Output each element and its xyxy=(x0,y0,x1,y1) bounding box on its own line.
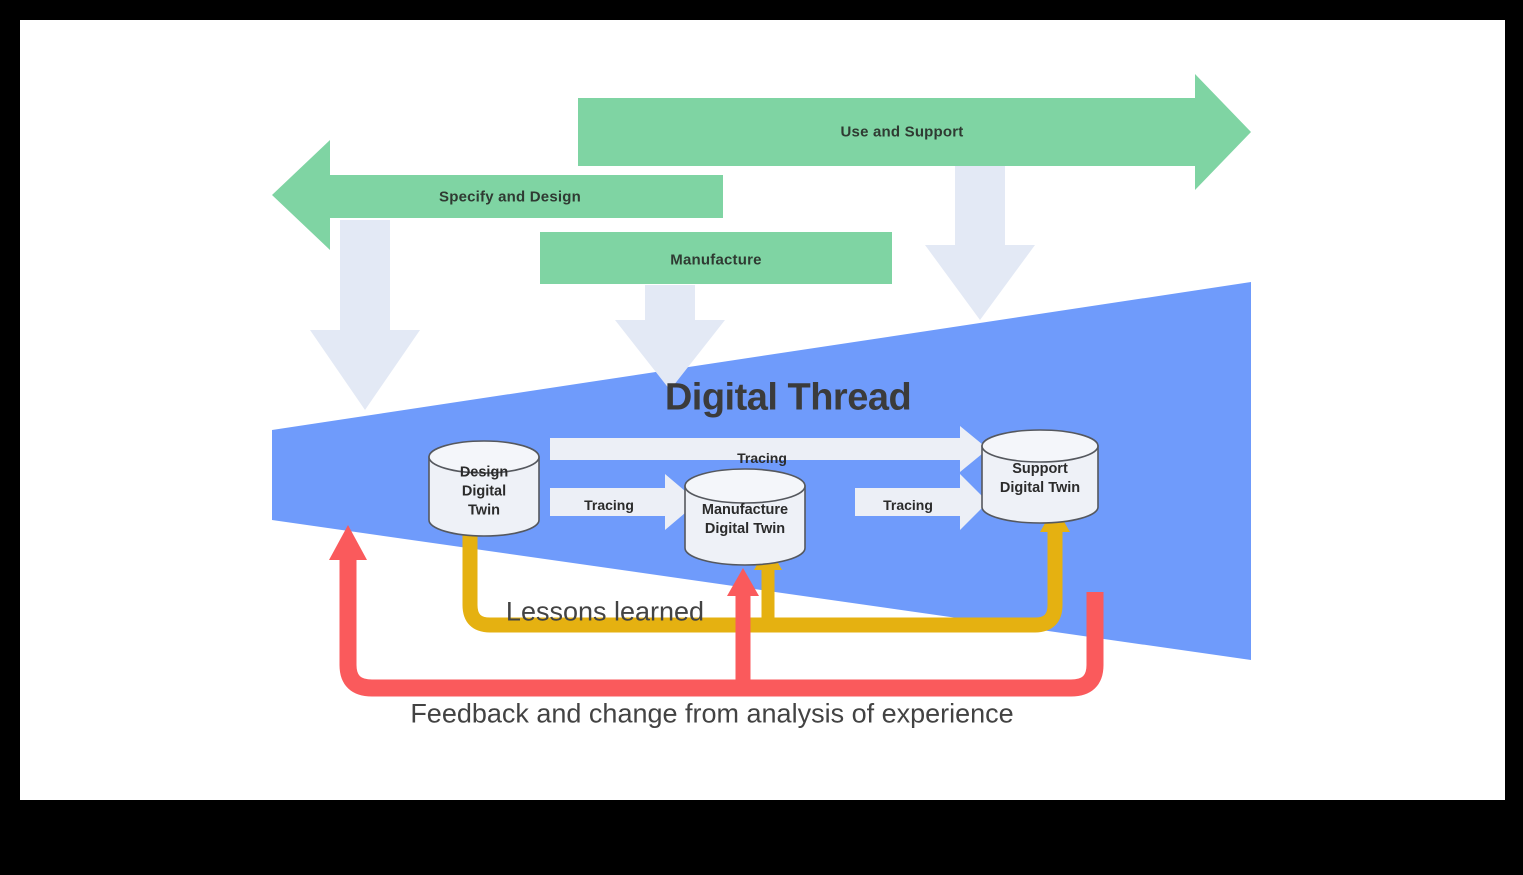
diagram-canvas: Use and Support Specify and Design Manuf… xyxy=(20,20,1505,800)
diagram-svg xyxy=(20,20,1505,800)
image-frame: Use and Support Specify and Design Manuf… xyxy=(0,0,1523,875)
grey-down-arrow-support xyxy=(925,150,1035,320)
cylinder-manufacture-digital-twin[interactable] xyxy=(685,469,805,565)
lifecycle-arrow-manufacture xyxy=(540,232,892,284)
grey-down-arrow-design xyxy=(310,220,420,410)
cylinder-design-digital-twin[interactable] xyxy=(429,441,539,536)
lifecycle-arrow-use-and-support xyxy=(578,74,1251,190)
cylinder-support-digital-twin[interactable] xyxy=(982,430,1098,523)
